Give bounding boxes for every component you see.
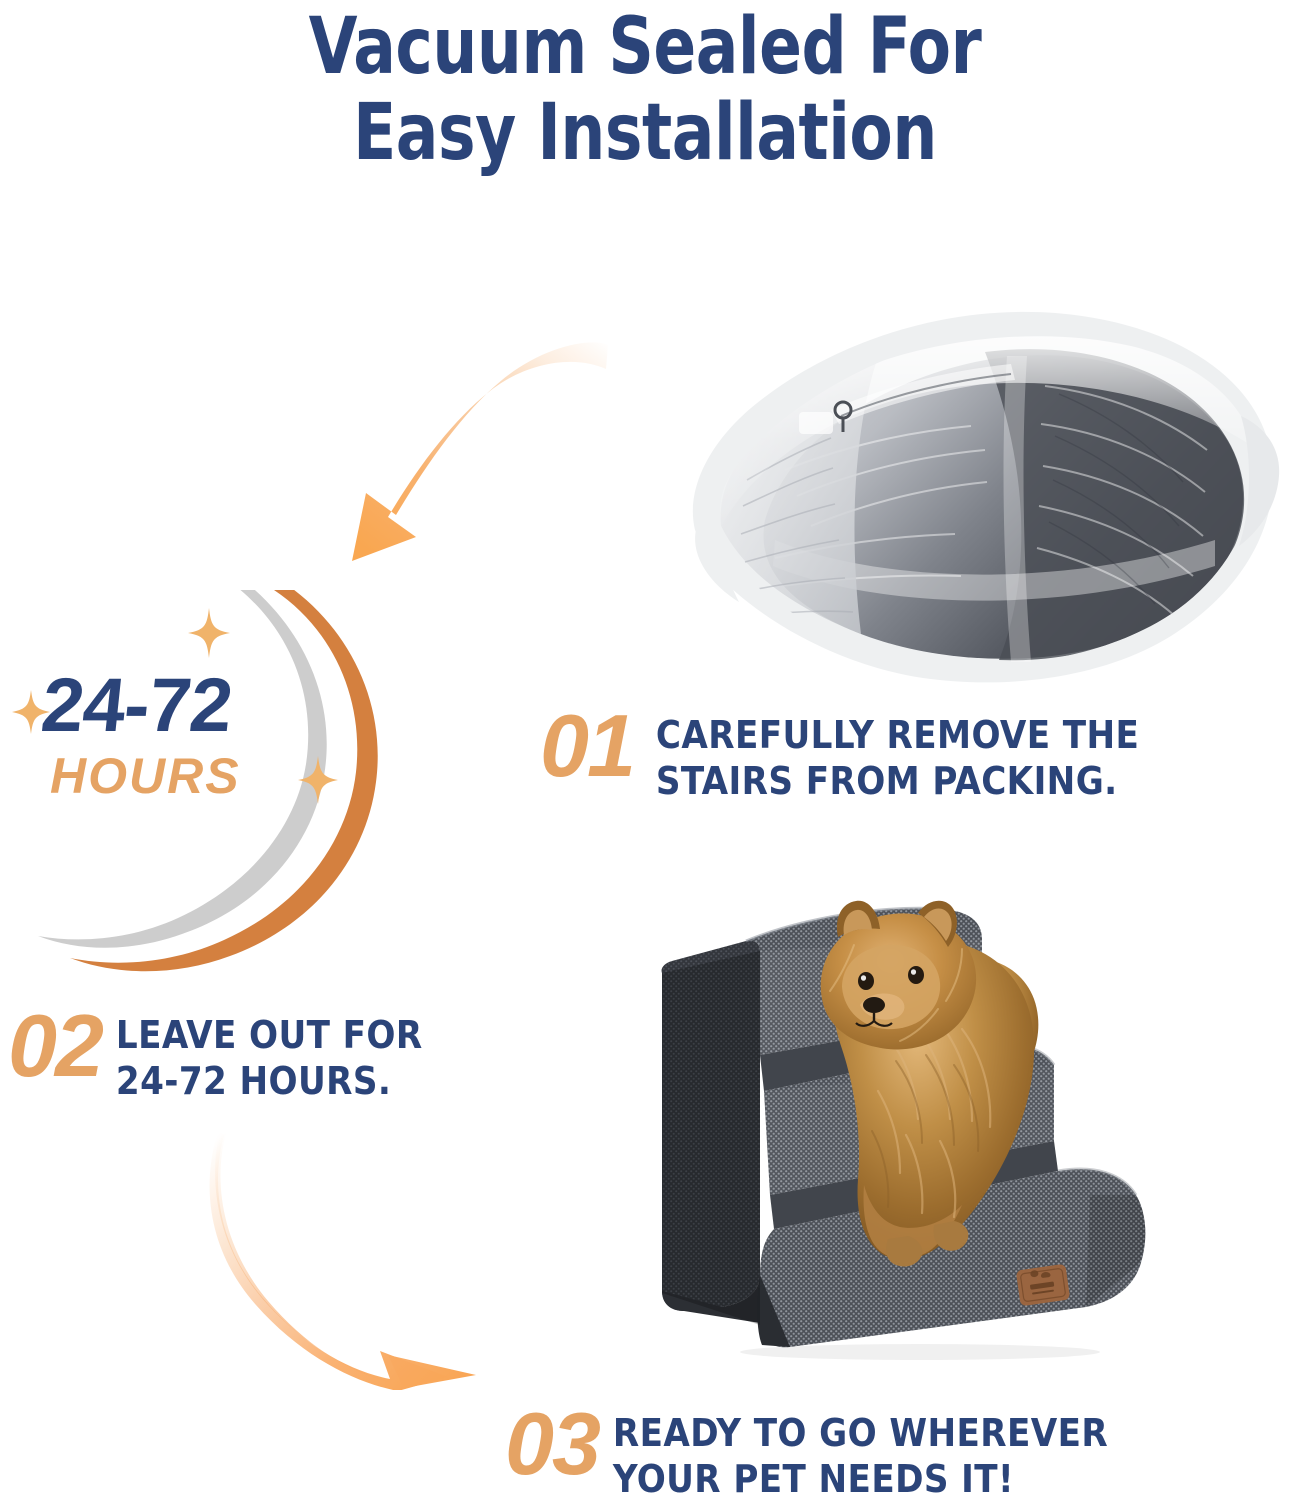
step-description: LEAVE OUT FOR 24-72 HOURS.	[116, 1000, 423, 1104]
step-item-02: 02 LEAVE OUT FOR 24-72 HOURS.	[8, 1000, 423, 1104]
step-number: 02	[8, 1000, 102, 1092]
step-description: CAREFULLY REMOVE THE STAIRS FROM PACKING…	[656, 700, 1139, 804]
step-item-01: 01 CAREFULLY REMOVE THE STAIRS FROM PACK…	[540, 700, 1139, 804]
page-title-line-2: Easy Installation	[65, 90, 1226, 176]
brand-leather-tag	[1016, 1264, 1071, 1307]
sparkle-icon	[188, 608, 230, 663]
step-item-03: 03 READY TO GO WHEREVER YOUR PET NEEDS I…	[505, 1398, 1108, 1500]
infographic-page: Vacuum Sealed For Easy Installation	[0, 0, 1290, 1500]
sparkle-icon	[298, 756, 338, 809]
step-number: 03	[505, 1398, 599, 1490]
curved-arrow-down-left-icon	[290, 325, 610, 575]
page-title: Vacuum Sealed For Easy Installation	[65, 4, 1226, 176]
duration-badge: 24-72 HOURS	[0, 590, 450, 980]
badge-duration-number: 24-72	[38, 668, 235, 744]
step-description: READY TO GO WHEREVER YOUR PET NEEDS IT!	[613, 1398, 1108, 1500]
step-number: 01	[540, 700, 634, 792]
pet-stairs-with-dog-photo	[650, 895, 1180, 1360]
vacuum-sealed-package-photo	[655, 290, 1285, 690]
badge-duration-unit: HOURS	[50, 750, 241, 802]
page-title-line-1: Vacuum Sealed For	[65, 4, 1226, 90]
curved-arrow-down-right-icon	[180, 1125, 540, 1390]
